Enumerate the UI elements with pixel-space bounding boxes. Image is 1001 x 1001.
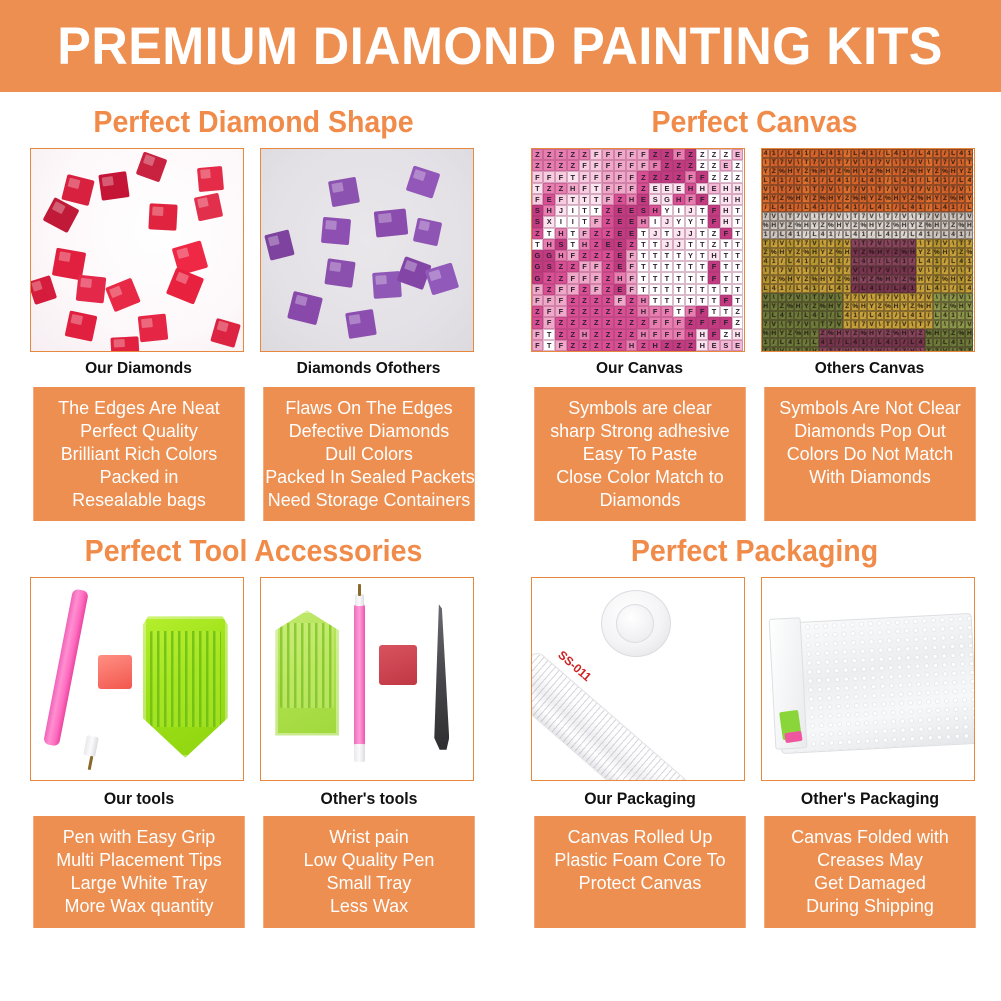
bullet-line: Need Storage Containers — [265, 488, 473, 511]
photo-others-canvas: 41/L41/L41/L41/L41/L41/L41\T7V\T7V\T7V\T… — [761, 148, 975, 352]
cell-others-diamonds: Diamonds Ofothers — [260, 148, 478, 380]
tube-ring-texture — [531, 650, 716, 781]
pen-needle-icon — [87, 756, 93, 771]
bullets-our-diamonds: The Edges Are Neat Perfect Quality Brill… — [33, 387, 244, 521]
bullet-line: Small Tray — [265, 871, 473, 894]
bullet-line: Symbols Are Not Clear — [766, 396, 974, 419]
section-title-diamond-shape: Perfect Diamond Shape — [27, 104, 481, 140]
section-diamond-shape: Perfect Diamond Shape — [7, 92, 500, 521]
bullets-others-canvas: Symbols Are Not Clear Diamonds Pop Out C… — [764, 387, 975, 521]
bullet-line: Symbols are clear — [536, 396, 744, 419]
tube-cap-nozzle-icon — [616, 604, 654, 642]
pink-pen-icon — [354, 602, 366, 747]
red-square-diamonds-photo — [31, 149, 243, 351]
photo-others-diamonds — [260, 148, 474, 352]
caption-our-canvas: Our Canvas — [531, 360, 749, 380]
cell-others-packaging: Other's Packaging — [761, 577, 979, 809]
bullet-line: Packed In Sealed Packets — [265, 465, 473, 488]
bullet-line: Protect Canvas — [536, 871, 744, 894]
bullet-line: Plastic Foam Core To — [536, 848, 744, 871]
section-title-canvas: Perfect Canvas — [528, 104, 982, 140]
tray-grooves — [150, 631, 221, 727]
white-tube-with-cap-photo — [531, 649, 717, 781]
infographic-page: PREMIUM DIAMOND PAINTING KITS Perfect Di… — [0, 0, 1001, 1001]
cell-our-diamonds: Our Diamonds — [30, 148, 248, 380]
green-tray-icon — [143, 616, 228, 757]
muddy-symbol-canvas-photo: 41/L41/L41/L41/L41/L41/L41\T7V\T7V\T7V\T… — [762, 149, 974, 351]
bullets-tools: Pen with Easy Grip Multi Placement Tips … — [7, 816, 500, 928]
bullet-line: Diamonds Pop Out — [766, 419, 974, 442]
bullets-diamond-shape: The Edges Are Neat Perfect Quality Brill… — [7, 387, 500, 521]
pink-pen-icon — [43, 589, 89, 747]
tweezers-icon — [430, 604, 449, 749]
bullet-line: Defective Diamonds — [265, 419, 473, 442]
photo-pair-canvas: ZZZZZFFFFFZZFZZZZEZZZZFFFFFFFZZZZZEZFFFT… — [508, 148, 1001, 380]
bullet-line: Brilliant Rich Colors — [35, 442, 243, 465]
cell-others-canvas: 41/L41/L41/L41/L41/L41/L41\T7V\T7V\T7V\T… — [761, 148, 979, 380]
bullet-line: With Diamonds — [766, 465, 974, 488]
page-header-banner: PREMIUM DIAMOND PAINTING KITS — [0, 0, 1001, 92]
section-title-tool-accessories: Perfect Tool Accessories — [27, 533, 481, 569]
wax-square-icon — [98, 655, 132, 689]
photo-others-packaging — [761, 577, 975, 781]
bullets-others-diamonds: Flaws On The Edges Defective Diamonds Du… — [263, 387, 474, 521]
bullet-line: Low Quality Pen — [265, 848, 473, 871]
bullet-line: Get Damaged — [766, 871, 974, 894]
caption-others-canvas: Others Canvas — [761, 360, 979, 380]
bullet-line: Canvas Folded with — [766, 825, 974, 848]
page-title: PREMIUM DIAMOND PAINTING KITS — [58, 16, 944, 77]
bullets-others-tools: Wrist pain Low Quality Pen Small Tray Le… — [263, 816, 474, 928]
small-green-tray-icon — [275, 610, 339, 735]
bullet-line: Canvas Rolled Up — [536, 825, 744, 848]
cell-our-canvas: ZZZZZFFFFFZZFZZZZEZZZZFFFFFFFZZZZZEZFFFT… — [531, 148, 749, 380]
photo-our-packaging: SS-011 — [531, 577, 745, 781]
bullet-line: Close Color Match to — [536, 465, 744, 488]
caption-our-packaging: Our Packaging — [538, 789, 741, 809]
bullet-line: Flaws On The Edges — [265, 396, 473, 419]
bullet-line: Multi Placement Tips — [35, 848, 243, 871]
section-canvas: Perfect Canvas ZZZZZFFFFFZZFZZZZEZZZZFFF… — [508, 92, 1001, 521]
cell-our-tools: Our tools — [30, 577, 248, 809]
bullet-line: Resealable bags — [35, 488, 243, 511]
bullets-our-packaging: Canvas Rolled Up Plastic Foam Core To Pr… — [534, 816, 745, 928]
bullets-canvas: Symbols are clear sharp Strong adhesive … — [508, 387, 1001, 521]
bullets-others-packaging: Canvas Folded with Creases May Get Damag… — [764, 816, 975, 928]
caption-our-tools: Our tools — [37, 789, 240, 809]
bullet-line: Wrist pain — [265, 825, 473, 848]
bullet-line: Diamonds — [536, 488, 744, 511]
purple-square-diamonds-photo — [261, 149, 473, 351]
tray-grooves — [280, 623, 333, 708]
bullet-line: Creases May — [766, 848, 974, 871]
bullet-line: sharp Strong adhesive — [536, 419, 744, 442]
bullet-line: Pen with Easy Grip — [35, 825, 243, 848]
comparison-grid: Perfect Diamond Shape — [0, 92, 1001, 928]
photo-our-diamonds — [30, 148, 244, 352]
bullet-line: Dull Colors — [265, 442, 473, 465]
bullet-line: More Wax quantity — [35, 894, 243, 917]
photo-our-tools — [30, 577, 244, 781]
caption-others-packaging: Other's Packaging — [768, 789, 971, 809]
section-tool-accessories: Perfect Tool Accessories Our tools — [7, 521, 500, 928]
bullet-line: Perfect Quality — [35, 419, 243, 442]
pink-symbol-canvas-photo: ZZZZZFFFFFZZFZZZZEZZZZFFFFFFFZZZZZEZFFFT… — [532, 149, 744, 351]
section-packaging: Perfect Packaging SS-011 Our Packaging — [508, 521, 1001, 928]
photo-others-tools — [260, 577, 474, 781]
mailer-contents-pink — [784, 730, 802, 742]
bullets-our-tools: Pen with Easy Grip Multi Placement Tips … — [33, 816, 244, 928]
bullet-line: Easy To Paste — [536, 442, 744, 465]
photo-pair-diamond-shape: Our Diamonds — [7, 148, 500, 380]
pen-tip-icon — [83, 735, 98, 757]
photo-pair-tools: Our tools Other's tools — [7, 577, 500, 809]
photo-pair-packaging: SS-011 Our Packaging Other's Packaging — [508, 577, 1001, 809]
bullet-line: Packed in — [35, 465, 243, 488]
bullets-packaging: Canvas Rolled Up Plastic Foam Core To Pr… — [508, 816, 1001, 928]
section-title-packaging: Perfect Packaging — [528, 533, 982, 569]
bullet-line: Less Wax — [265, 894, 473, 917]
bullet-line: The Edges Are Neat — [35, 396, 243, 419]
caption-others-tools: Other's tools — [267, 789, 470, 809]
bullet-line: Colors Do Not Match — [766, 442, 974, 465]
pen-tip-icon — [354, 744, 366, 762]
caption-others-diamonds: Diamonds Ofothers — [260, 360, 478, 380]
caption-our-diamonds: Our Diamonds — [30, 360, 248, 380]
bullet-line: During Shipping — [766, 894, 974, 917]
photo-our-canvas: ZZZZZFFFFFZZFZZZZEZZZZFFFFFFFZZZZZEZFFFT… — [531, 148, 745, 352]
bullet-line: Large White Tray — [35, 871, 243, 894]
cell-our-packaging: SS-011 Our Packaging — [531, 577, 749, 809]
bullets-our-canvas: Symbols are clear sharp Strong adhesive … — [534, 387, 745, 521]
pen-needle-icon — [358, 584, 361, 596]
cell-others-tools: Other's tools — [260, 577, 478, 809]
wax-square-icon — [379, 645, 417, 685]
